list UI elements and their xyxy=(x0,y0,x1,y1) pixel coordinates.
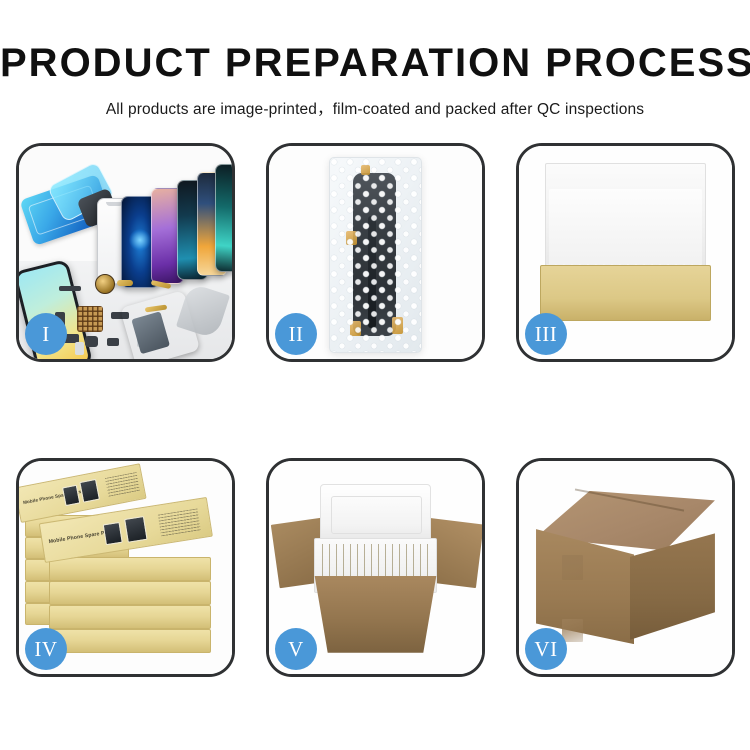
box-art-phone-icon xyxy=(103,522,123,545)
step-badge-2: II xyxy=(275,313,317,355)
yellow-box-tray-icon xyxy=(540,265,710,320)
process-step-4: Mobile Phone Spare Parts Mobile Phone Sp… xyxy=(16,458,235,677)
carton-tape-tab-icon xyxy=(562,619,583,642)
step-badge-5: V xyxy=(275,628,317,670)
header: PRODUCT PREPARATION PROCESS All products… xyxy=(0,0,750,119)
step-6-image: VI xyxy=(519,461,732,674)
step-4-image: Mobile Phone Spare Parts Mobile Phone Sp… xyxy=(19,461,232,674)
component-chip-icon xyxy=(107,338,119,346)
step-1-image: I xyxy=(19,146,232,359)
camera-module-icon xyxy=(85,336,98,347)
process-step-1: I xyxy=(16,143,235,362)
step-3-image: III xyxy=(519,146,732,359)
process-step-3: III xyxy=(516,143,735,362)
yellow-box-icon xyxy=(49,557,211,581)
sim-tray-icon xyxy=(75,342,84,355)
box-art-phone-icon xyxy=(124,516,148,543)
box-art-phone-icon xyxy=(62,485,80,507)
flex-cable-icon xyxy=(117,280,133,286)
foam-sheet-icon xyxy=(549,189,702,274)
foam-box-lid-icon xyxy=(320,484,431,544)
step-2-image: II xyxy=(269,146,482,359)
process-step-5: V xyxy=(266,458,485,677)
process-step-6: VI xyxy=(516,458,735,677)
yellow-box-icon xyxy=(49,581,211,605)
box-spec-lines-icon xyxy=(158,508,201,536)
speaker-module-icon xyxy=(95,274,115,294)
box-spec-lines-icon xyxy=(105,472,140,498)
antenna-strip-icon xyxy=(59,286,81,291)
process-step-grid: I II xyxy=(16,143,735,677)
logic-board-icon xyxy=(77,306,103,332)
carton-tape-tab-icon xyxy=(562,555,583,581)
bubble-texture-icon xyxy=(330,158,422,352)
process-step-2: II xyxy=(266,143,485,362)
page-subtitle: All products are image-printed，film-coat… xyxy=(0,97,750,119)
step-badge-6: VI xyxy=(525,628,567,670)
product-preparation-infographic: PRODUCT PREPARATION PROCESS All products… xyxy=(0,0,750,750)
box-art-phone-icon xyxy=(79,479,100,503)
yellow-box-icon xyxy=(49,629,211,653)
yellow-box-icon xyxy=(49,605,211,629)
page-title: PRODUCT PREPARATION PROCESS xyxy=(0,42,750,84)
phone-screen-green-icon xyxy=(215,164,232,272)
step-5-image: V xyxy=(269,461,482,674)
step-badge-3: III xyxy=(525,313,567,355)
bubble-wrap-bag-icon xyxy=(329,157,423,353)
step-badge-1: I xyxy=(25,313,67,355)
step-badge-4: IV xyxy=(25,628,67,670)
